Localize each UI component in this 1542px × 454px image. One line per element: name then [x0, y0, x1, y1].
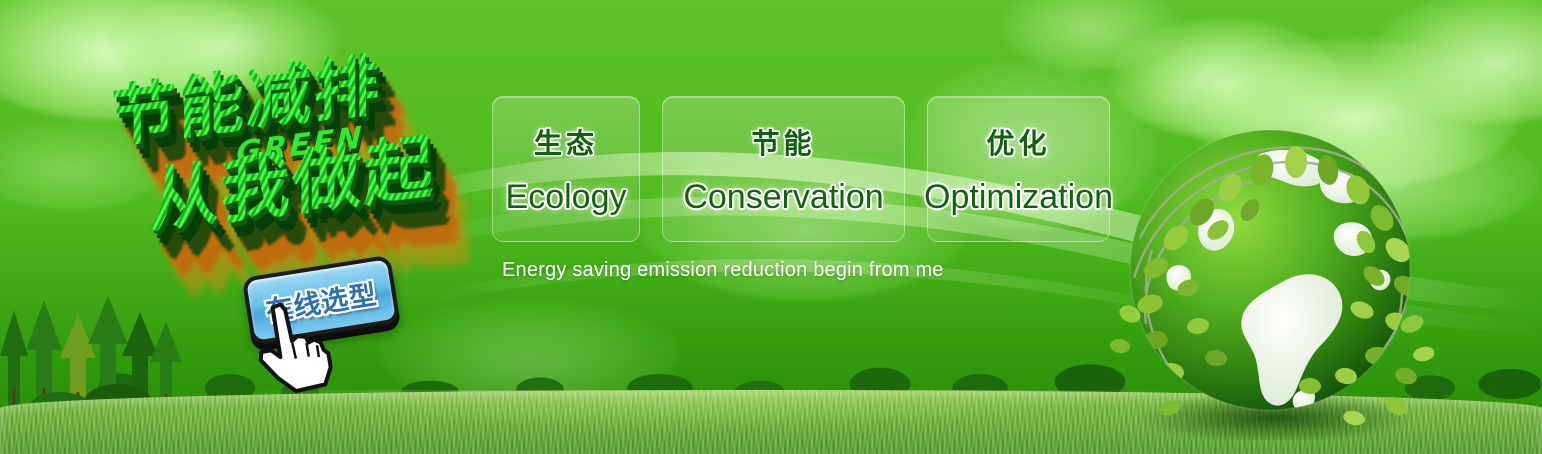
tagline-text: Energy saving emission reduction begin f…	[502, 259, 944, 282]
headline-3d: 节能减排 GREEN 从我做起	[96, 34, 516, 274]
feature-card-title-en: Conservation	[683, 178, 883, 217]
feature-card-ecology[interactable]: 生态 Ecology	[492, 96, 640, 242]
feature-card-title-en: Ecology	[506, 178, 627, 217]
feature-card-title-cn: 生态	[534, 122, 598, 162]
green-globe-icon	[1110, 118, 1434, 440]
feature-card-title-cn: 节能	[751, 122, 815, 162]
eco-promo-banner: 节能减排 GREEN 从我做起 在线选型 生态 Ecology 节能 Conse…	[0, 0, 1542, 454]
hand-pointer-cursor-icon	[242, 291, 342, 399]
feature-card-optimization[interactable]: 优化 Optimization	[927, 96, 1110, 242]
feature-card-conservation[interactable]: 节能 Conservation	[662, 96, 905, 242]
feature-card-title-cn: 优化	[986, 122, 1050, 162]
feature-card-title-en: Optimization	[924, 178, 1113, 217]
feature-card-list: 生态 Ecology 节能 Conservation 优化 Optimizati…	[492, 96, 1110, 242]
